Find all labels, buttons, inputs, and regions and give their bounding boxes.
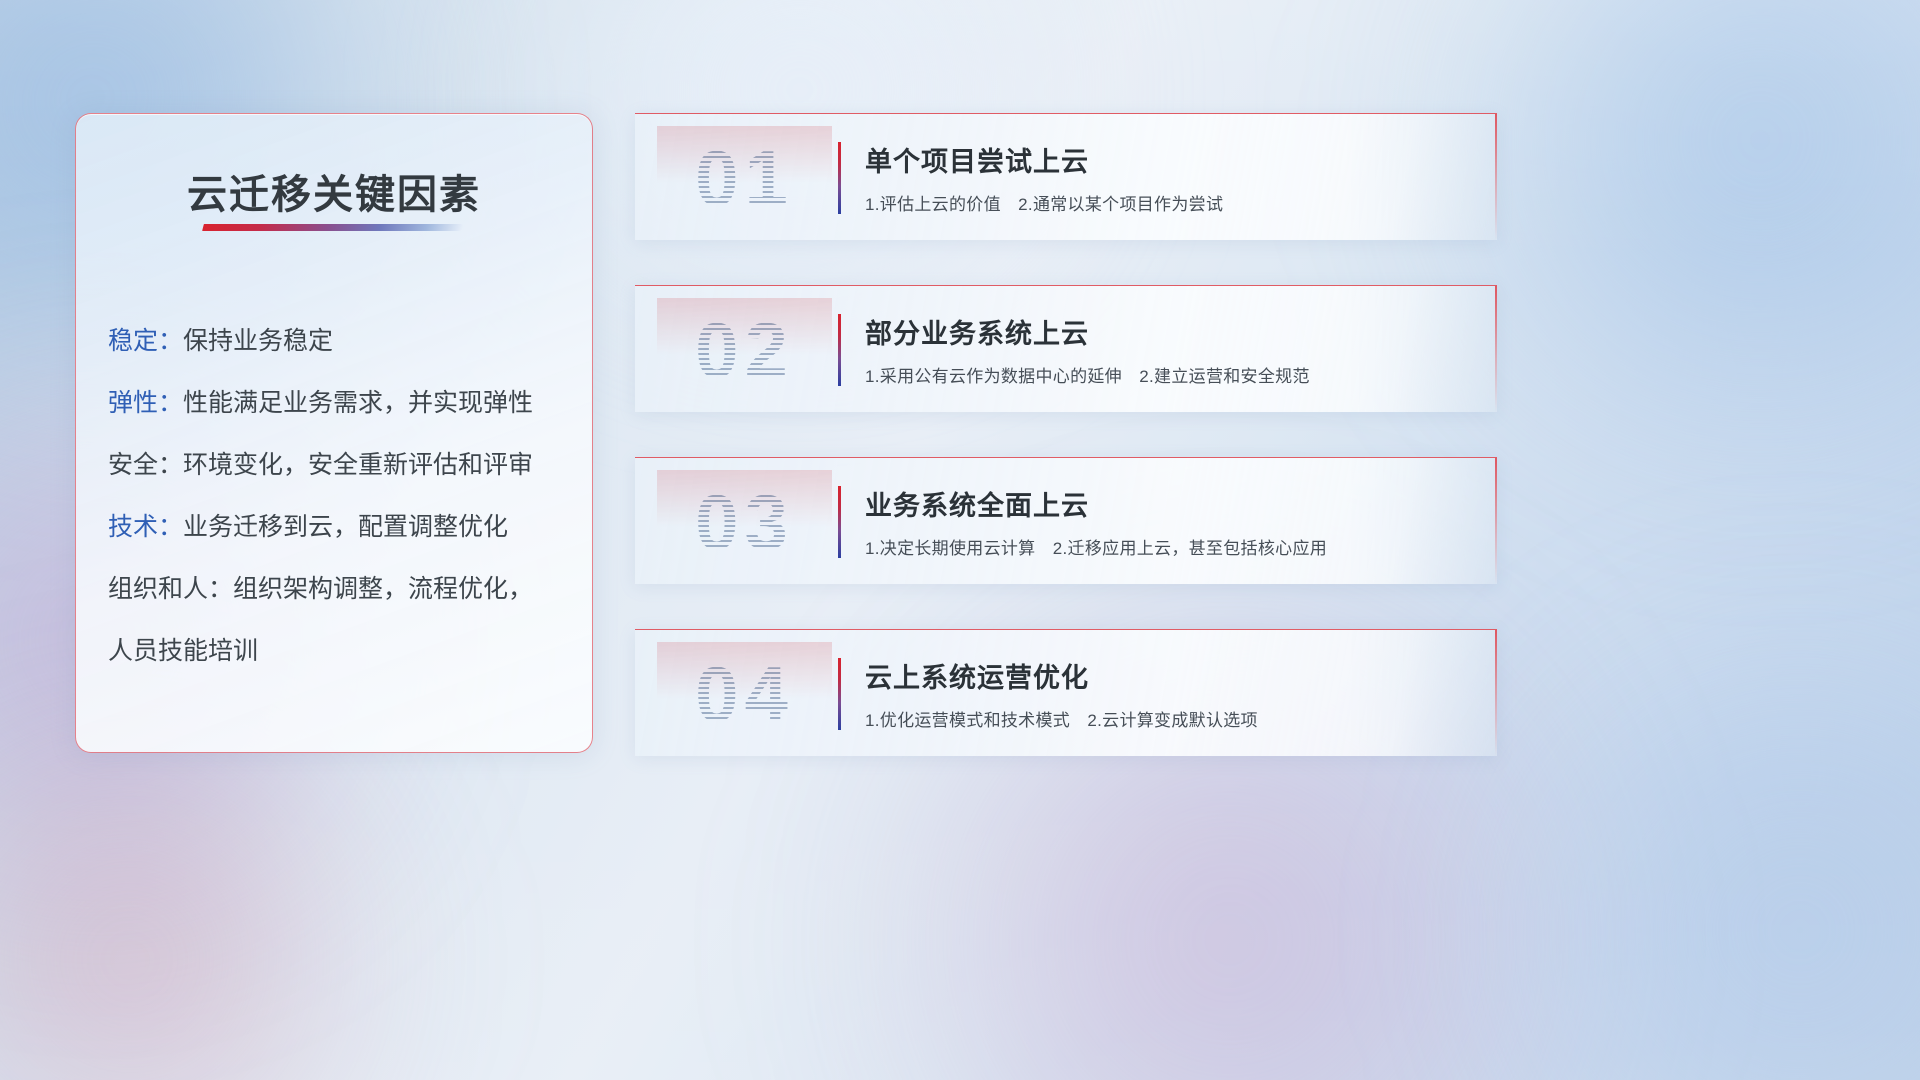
- key-factors-panel: 云迁移关键因素 稳定：保持业务稳定 弹性：性能满足业务需求，并实现弹性 安全：环…: [75, 113, 593, 753]
- stage-divider-accent: [838, 314, 841, 386]
- stage-title: 单个项目尝试上云: [865, 140, 1089, 179]
- list-item-text: 保持业务稳定: [183, 327, 333, 355]
- stage-title: 云上系统运营优化: [865, 656, 1089, 695]
- stage-card-01[interactable]: 01 单个项目尝试上云 1.评估上云的价值 2.通常以某个项目作为尝试: [635, 113, 1497, 240]
- stage-divider-accent: [838, 486, 841, 558]
- stage-title: 业务系统全面上云: [865, 484, 1089, 523]
- stage-card-02[interactable]: 02 部分业务系统上云 1.采用公有云作为数据中心的延伸 2.建立运营和安全规范: [635, 285, 1497, 412]
- stage-subtitle: 1.采用公有云作为数据中心的延伸 2.建立运营和安全规范: [865, 362, 1310, 387]
- list-item: 安全：环境变化，安全重新评估和评审: [108, 434, 570, 496]
- stage-divider-accent: [838, 658, 841, 730]
- list-item-text: 人员技能培训: [108, 637, 258, 665]
- stage-subtitle: 1.优化运营模式和技术模式 2.云计算变成默认选项: [865, 706, 1258, 731]
- list-item-key: 稳定：: [108, 327, 183, 355]
- stage-card-edge-fade: [1347, 114, 1497, 240]
- list-item-text: 性能满足业务需求，并实现弹性: [183, 389, 533, 417]
- stage-card-edge-fade: [1347, 630, 1497, 756]
- list-item-text: 业务迁移到云，配置调整优化: [183, 513, 508, 541]
- key-factors-list: 稳定：保持业务稳定 弹性：性能满足业务需求，并实现弹性 安全：环境变化，安全重新…: [108, 310, 570, 682]
- slide-stage: 云迁移关键因素 稳定：保持业务稳定 弹性：性能满足业务需求，并实现弹性 安全：环…: [0, 0, 1920, 1080]
- list-item: 人员技能培训: [108, 620, 570, 682]
- title-underline-accent: [202, 224, 464, 231]
- stage-subtitle: 1.评估上云的价值 2.通常以某个项目作为尝试: [865, 190, 1223, 215]
- list-item-text: 组织架构调整，流程优化，: [233, 575, 533, 603]
- stage-number: 03: [657, 470, 832, 574]
- stage-card-04[interactable]: 04 云上系统运营优化 1.优化运营模式和技术模式 2.云计算变成默认选项: [635, 629, 1497, 756]
- stage-number: 01: [657, 126, 832, 230]
- list-item-key: 技术：: [108, 513, 183, 541]
- list-item-key: 弹性：: [108, 389, 183, 417]
- stage-number: 04: [657, 642, 832, 746]
- list-item: 弹性：性能满足业务需求，并实现弹性: [108, 372, 570, 434]
- list-item: 组织和人：组织架构调整，流程优化，: [108, 558, 570, 620]
- stage-card-edge-fade: [1347, 286, 1497, 412]
- list-item-key: 安全：: [108, 451, 183, 479]
- page-title: 云迁移关键因素: [76, 162, 592, 220]
- stage-subtitle: 1.决定长期使用云计算 2.迁移应用上云，甚至包括核心应用: [865, 534, 1327, 559]
- stage-title: 部分业务系统上云: [865, 312, 1089, 351]
- list-item: 稳定：保持业务稳定: [108, 310, 570, 372]
- stage-card-edge-fade: [1347, 458, 1497, 584]
- list-item-text: 环境变化，安全重新评估和评审: [183, 451, 533, 479]
- stage-number: 02: [657, 298, 832, 402]
- list-item-key: 组织和人：: [108, 575, 233, 603]
- list-item: 技术：业务迁移到云，配置调整优化: [108, 496, 570, 558]
- stage-card-03[interactable]: 03 业务系统全面上云 1.决定长期使用云计算 2.迁移应用上云，甚至包括核心应…: [635, 457, 1497, 584]
- stage-divider-accent: [838, 142, 841, 214]
